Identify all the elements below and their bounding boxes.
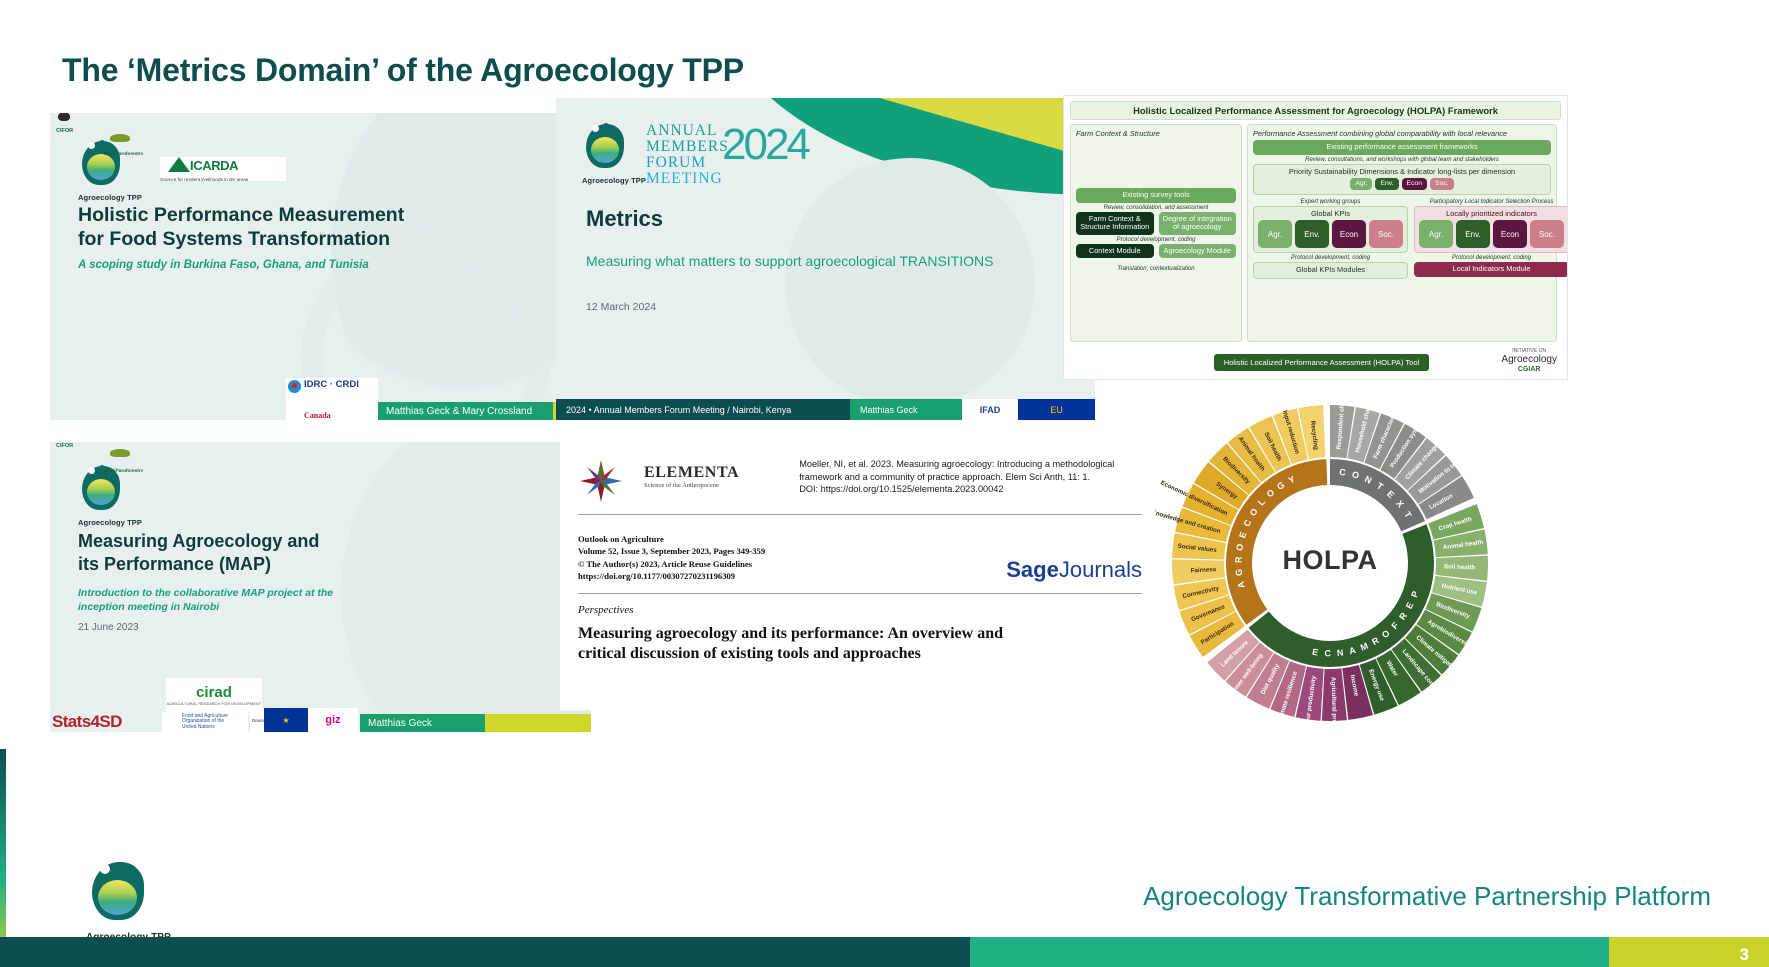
local-indicators-module-box: Local Indicators Module bbox=[1414, 262, 1568, 277]
holpa-wheel-svg: CONTEXTRespondent characteristicsHouseho… bbox=[1155, 395, 1505, 725]
holpa-global-note-2: Protocol development, coding bbox=[1253, 255, 1408, 261]
strip-segment-teal-mid bbox=[180, 937, 970, 967]
holpa-left-column: Farm Context & Structure Existing survey… bbox=[1070, 124, 1242, 342]
decorative-circle bbox=[785, 158, 1035, 408]
paper-title: Measuring agroecology and its performanc… bbox=[560, 616, 1160, 665]
cgiar-logo: INITIATIVE ON Agroecology CGIAR bbox=[1501, 348, 1557, 373]
outlook-line-1: Outlook on Agriculture bbox=[578, 533, 765, 545]
card2-footer: 2024 • Annual Members Forum Meeting / Na… bbox=[556, 399, 1095, 420]
elementa-citation-row: ELEMENTA Science of the Anthropocene Moe… bbox=[560, 440, 1160, 504]
holpa-right-column: Performance Assessment combining global … bbox=[1247, 124, 1557, 342]
tpp-logo-label: Agroecology TPP bbox=[78, 193, 142, 202]
svg-text:Agricultural productivity: Agricultural productivity bbox=[1330, 677, 1339, 725]
local-indicators-title: Locally prioritized indicators bbox=[1419, 210, 1564, 219]
sage-citation-row: Outlook on Agriculture Volume 52, Issue … bbox=[560, 515, 1160, 583]
global-kpi-soc: Soc. bbox=[1369, 220, 1403, 248]
global-kpi-econ: Econ bbox=[1332, 220, 1366, 248]
agroecology-tpp-logo: Agroecology TPP bbox=[582, 122, 646, 185]
card4-title-line1: Measuring Agroecology and bbox=[78, 530, 319, 553]
card4-subtitle-line1: Introduction to the collaborative MAP pr… bbox=[78, 587, 333, 601]
local-kpi-agr: Agr. bbox=[1419, 220, 1453, 248]
card4-title-line2: its Performance (MAP) bbox=[78, 553, 319, 576]
svg-text:Soil health: Soil health bbox=[1444, 563, 1476, 571]
amf-year: 2024 bbox=[722, 120, 808, 170]
holpa-local-note-2: Protocol development, coding bbox=[1414, 255, 1568, 261]
priority-pill-soc: Soc. bbox=[1430, 178, 1454, 190]
world-agroforestry-logo bbox=[104, 133, 156, 155]
page-number: 3 bbox=[1740, 945, 1749, 965]
farm-context-info-box: Farm Context & Structure Information bbox=[1076, 212, 1154, 235]
idrc-logo-text: IDRC · CRDI bbox=[304, 379, 359, 390]
svg-text:Fairness: Fairness bbox=[1191, 566, 1217, 574]
amf-wordmark: ANNUAL MEMBERS FORUM MEETING bbox=[646, 123, 729, 187]
stats4sd-logo: Stats4SD bbox=[52, 712, 160, 732]
local-kpi-env: Env. bbox=[1456, 220, 1490, 248]
tpp-droplet-icon bbox=[86, 860, 148, 930]
existing-frameworks-box: Existing performance assessment framewor… bbox=[1253, 140, 1551, 155]
amf-line-members: MEMBERS bbox=[646, 139, 729, 155]
tpp-logo-label: Agroecology TPP bbox=[582, 176, 646, 185]
card1-title-line1: Holistic Performance Measurement bbox=[78, 203, 404, 227]
global-kpi-env: Env. bbox=[1295, 220, 1329, 248]
outlook-citation: Outlook on Agriculture Volume 52, Issue … bbox=[578, 533, 765, 583]
holpa-left-note-3: Translation, contextualization bbox=[1076, 266, 1236, 272]
thumbnail-card-metrics-amf[interactable]: Agroecology TPP ANNUAL MEMBERS FORUM MEE… bbox=[556, 98, 1095, 420]
local-indicators-panel: Locally prioritized indicators Agr. Env.… bbox=[1414, 206, 1568, 254]
section-label: Perspectives bbox=[560, 594, 1160, 616]
svg-text:C: C bbox=[1324, 648, 1331, 658]
footer-tagline: Agroecology Transformative Partnership P… bbox=[1143, 881, 1711, 912]
outlook-line-3: © The Author(s) 2023, Article Reuse Guid… bbox=[578, 558, 765, 570]
giz-logo: giz bbox=[308, 708, 358, 732]
global-kpis-title: Global KPIs bbox=[1258, 210, 1403, 219]
cifor-logo bbox=[56, 442, 100, 448]
priority-pill-row: Agr. Env. Econ Soc. bbox=[1258, 178, 1546, 190]
priority-dimensions-box: Priority Sustainability Dimensions & Ind… bbox=[1253, 164, 1551, 195]
svg-text:G: G bbox=[1234, 568, 1245, 576]
strip-segment-yellow: 3 bbox=[1609, 937, 1769, 967]
ifad-logo: IFAD bbox=[962, 399, 1018, 420]
card2-subtitle: Measuring what matters to support agroec… bbox=[586, 253, 993, 269]
strip-segment-green bbox=[970, 937, 1609, 967]
icarda-logo: ICARDA Science for resilient livelihoods… bbox=[160, 157, 286, 181]
global-kpi-squares: Agr. Env. Econ Soc. bbox=[1258, 220, 1403, 248]
journals-wordmark: Journals bbox=[1059, 557, 1142, 582]
strip-segment-teal-left bbox=[0, 937, 180, 967]
holpa-global-branch: Expert working groups Global KPIs Agr. E… bbox=[1253, 197, 1408, 279]
decorative-swirl bbox=[341, 442, 591, 732]
local-kpi-soc: Soc. bbox=[1530, 220, 1564, 248]
card1-title-line2: for Food Systems Transformation bbox=[78, 227, 404, 251]
paper-title-line-1: Measuring agroecology and its performanc… bbox=[578, 624, 1142, 644]
holpa-left-caption: Farm Context & Structure bbox=[1076, 129, 1236, 138]
amf-line-meeting: MEETING bbox=[646, 171, 729, 187]
card2-date: 12 March 2024 bbox=[586, 301, 656, 313]
citation-line-2: framework and a community of practice ap… bbox=[799, 471, 1114, 484]
footer-accent-rule bbox=[0, 749, 6, 967]
card4-date: 21 June 2023 bbox=[78, 622, 139, 633]
elementa-citation: Moeller, NI, et al. 2023. Measuring agro… bbox=[799, 458, 1114, 496]
footer-area bbox=[0, 749, 1769, 967]
sage-journals-logo: SageJournals bbox=[1006, 557, 1142, 583]
card1-title: Holistic Performance Measurement for Foo… bbox=[78, 203, 404, 251]
cirad-logo: cirad AGRICULTURAL RESEARCH FOR DEVELOPM… bbox=[166, 678, 262, 712]
local-kpi-econ: Econ bbox=[1493, 220, 1527, 248]
world-agroforestry-logo bbox=[104, 448, 160, 472]
holpa-right-caption: Performance Assessment combining global … bbox=[1253, 129, 1551, 138]
existing-survey-tools-box: Existing survey tools bbox=[1076, 188, 1236, 203]
holpa-left-note-1: Review, consolidation, and assessment bbox=[1076, 205, 1236, 211]
global-kpis-modules-box: Global KPIs Modules bbox=[1253, 262, 1408, 279]
holpa-columns: Farm Context & Structure Existing survey… bbox=[1070, 124, 1561, 342]
footer-brand-logo: Agroecology TPP bbox=[86, 860, 171, 943]
stats4sd-wordmark: Stats4SD bbox=[52, 712, 122, 732]
card1-subtitle: A scoping study in Burkina Faso, Ghana, … bbox=[78, 259, 369, 271]
cgiar-initiative-name: Agroecology bbox=[1501, 354, 1557, 365]
agroecology-tpp-logo: Agroecology TPP bbox=[78, 464, 142, 527]
citation-line-3: DOI: https://doi.org/10.1525/elementa.20… bbox=[799, 483, 1114, 496]
amf-line-annual: ANNUAL bbox=[646, 123, 729, 139]
card4-author-band: Matthias Geck bbox=[360, 714, 485, 732]
global-kpis-panel: Global KPIs Agr. Env. Econ Soc. bbox=[1253, 206, 1408, 254]
eu-flag-logo: ★ bbox=[264, 708, 308, 732]
card4-subtitle-line2: inception meeting in Nairobi bbox=[78, 601, 333, 615]
card2-footer-author: Matthias Geck bbox=[850, 399, 962, 420]
thumbnail-card-holpa-framework[interactable]: Holistic Localized Performance Assessmen… bbox=[1063, 95, 1568, 380]
icarda-logo-sub: Science for resilient livelihoods in dry… bbox=[160, 177, 248, 181]
card1-author-band: Matthias Geck & Mary Crossland bbox=[378, 402, 553, 420]
holpa-right-note-1: Review, consultations, and workshops wit… bbox=[1253, 157, 1551, 163]
card2-footer-event: 2024 • Annual Members Forum Meeting / Na… bbox=[556, 399, 850, 420]
cirad-wordmark: cirad bbox=[196, 684, 232, 701]
priority-dimensions-label: Priority Sustainability Dimensions & Ind… bbox=[1258, 168, 1546, 177]
participatory-selection-note: Participatory Local Indicator Selection … bbox=[1414, 199, 1568, 205]
cgiar-wordmark: CGIAR bbox=[1501, 366, 1557, 373]
holpa-framework-header: Holistic Localized Performance Assessmen… bbox=[1070, 101, 1561, 120]
outlook-line-2: Volume 52, Issue 3, September 2023, Page… bbox=[578, 545, 765, 557]
fao-logo: Food and AgricultureOrganization of theU… bbox=[162, 712, 248, 732]
journal-article-panel[interactable]: ELEMENTA Science of the Anthropocene Moe… bbox=[560, 440, 1160, 710]
global-kpi-agr: Agr. bbox=[1258, 220, 1292, 248]
priority-pill-agr: Agr. bbox=[1350, 178, 1372, 190]
canada-wordmark: Canada bbox=[304, 411, 331, 420]
elementa-name: ELEMENTA bbox=[644, 464, 739, 482]
agroecology-module-box: Agroecology Module bbox=[1159, 244, 1237, 259]
amf-line-forum: FORUM bbox=[646, 155, 729, 171]
card4-title: Measuring Agroecology and its Performanc… bbox=[78, 530, 319, 575]
svg-text:N: N bbox=[1336, 647, 1344, 658]
holpa-local-branch: Participatory Local Indicator Selection … bbox=[1414, 197, 1568, 279]
giz-wordmark: giz bbox=[325, 714, 340, 726]
svg-text:R: R bbox=[1233, 556, 1243, 563]
tpp-logo-label: Agroecology TPP bbox=[78, 518, 142, 527]
eu-flag-logo: EU bbox=[1018, 399, 1095, 420]
footer-color-strip: 3 bbox=[0, 937, 1769, 967]
priority-pill-econ: Econ bbox=[1402, 178, 1428, 190]
expert-working-groups-note: Expert working groups bbox=[1253, 199, 1408, 205]
elementa-tagline: Science of the Anthropocene bbox=[644, 482, 739, 489]
cifor-logo bbox=[56, 113, 100, 133]
degree-integration-box: Degree of integration of agroecology bbox=[1159, 212, 1237, 235]
paper-title-line-2: critical discussion of existing tools an… bbox=[578, 644, 1142, 664]
citation-line-1: Moeller, NI, et al. 2023. Measuring agro… bbox=[799, 458, 1114, 471]
context-module-box: Context Module bbox=[1076, 244, 1154, 259]
outlook-line-4: https://doi.org/10.1177/0030727023119630… bbox=[578, 570, 765, 582]
card4-subtitle: Introduction to the collaborative MAP pr… bbox=[78, 587, 333, 614]
holpa-left-note-2: Protocol development, coding bbox=[1076, 237, 1236, 243]
card4-yellow-band bbox=[485, 714, 591, 732]
thumbnail-card-holistic-performance[interactable]: Agroecology TPP Holistic Performance Mea… bbox=[50, 113, 591, 420]
card2-title: Metrics bbox=[586, 206, 663, 232]
tpp-droplet-icon bbox=[582, 122, 628, 174]
holpa-wheel-diagram[interactable]: CONTEXTRespondent characteristicsHouseho… bbox=[1155, 395, 1505, 725]
elementa-star-icon bbox=[578, 458, 624, 504]
page-title: The ‘Metrics Domain’ of the Agroecology … bbox=[62, 52, 744, 89]
thumbnail-card-measuring-agroecology-map[interactable]: Agroecology TPP Measuring Agroecology an… bbox=[50, 442, 591, 732]
holpa-tool-box: Holistic Localized Performance Assessmen… bbox=[1214, 354, 1429, 371]
local-kpi-squares: Agr. Env. Econ Soc. bbox=[1419, 220, 1564, 248]
priority-pill-env: Env. bbox=[1375, 178, 1398, 190]
icarda-logo-text: ICARDA bbox=[190, 158, 238, 173]
idrc-crdi-logo: IDRC · CRDI Canada bbox=[286, 378, 378, 420]
elementa-wordmark: ELEMENTA Science of the Anthropocene bbox=[644, 464, 739, 489]
sage-wordmark: Sage bbox=[1006, 557, 1059, 582]
